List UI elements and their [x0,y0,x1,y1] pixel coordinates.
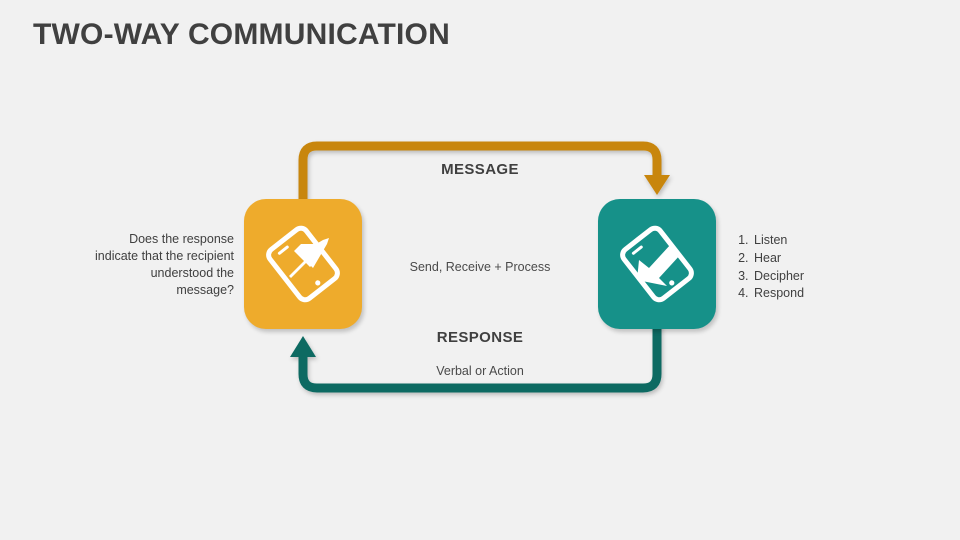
two-way-communication-diagram: MESSAGE Send, Receive + Process RESPONSE… [0,0,960,540]
label-center-process: Send, Receive + Process [370,260,590,274]
list-item: Hear [752,250,882,268]
list-item: Decipher [752,268,882,286]
label-message: MESSAGE [380,161,580,178]
label-response: RESPONSE [380,329,580,346]
phone-receive-arrow-icon [615,222,699,306]
list-item: Respond [752,285,882,303]
slide-canvas: TWO-WAY COMMUNICATION [0,0,960,540]
list-item: Listen [752,232,882,250]
annotation-left-question: Does the response indicate that the reci… [94,231,234,299]
node-sender[interactable] [244,199,362,329]
phone-send-arrow-icon [261,222,345,306]
annotation-right-steps: Listen Hear Decipher Respond [732,232,882,303]
label-response-subtitle: Verbal or Action [380,364,580,378]
node-receiver[interactable] [598,199,716,329]
right-steps-list: Listen Hear Decipher Respond [732,232,882,303]
